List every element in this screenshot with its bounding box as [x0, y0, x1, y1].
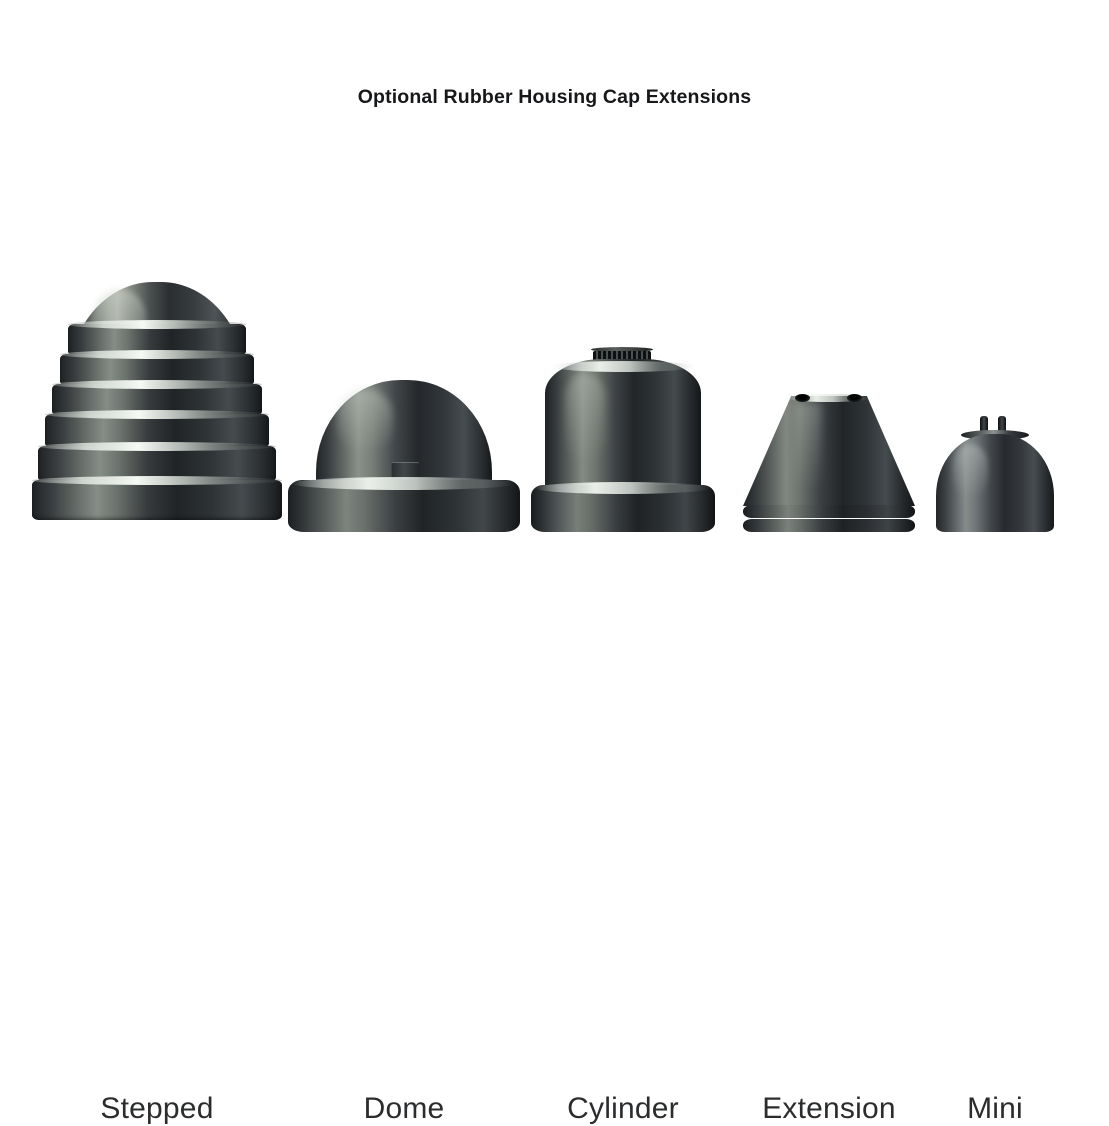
product-label-stepped: Stepped	[32, 1092, 282, 1126]
extension-top-hole-right	[847, 394, 862, 402]
stepped-ring-6-highlight	[32, 476, 282, 485]
stepped-ring-3-highlight	[52, 380, 262, 389]
extension-top-hole-left	[795, 394, 810, 402]
stepped-ring-2-highlight	[60, 350, 254, 359]
cylinder-shoulder-highlight	[551, 361, 695, 372]
extension-cap-illustration	[743, 389, 915, 532]
product-label-cylinder: Cylinder	[531, 1092, 715, 1126]
extension-base-ring-upper	[743, 505, 915, 518]
mini-bell-body	[936, 434, 1054, 532]
stepped-ring-1-highlight	[68, 320, 246, 329]
stepped-ring-4-highlight	[45, 410, 269, 419]
product-label-mini: Mini	[936, 1092, 1054, 1126]
mini-cap-illustration	[936, 410, 1054, 532]
stepped-cap-illustration	[32, 282, 282, 532]
stepped-ring-5-highlight	[38, 442, 276, 451]
product-label-extension: Extension	[743, 1092, 915, 1126]
stepped-ring-6	[32, 480, 282, 520]
cylinder-body	[545, 359, 701, 496]
extension-cone-body	[743, 396, 915, 506]
dome-flange-rim-highlight	[292, 477, 516, 490]
extension-base-ring-lower	[743, 519, 915, 532]
product-lineup: Stepped Dome Cylinder	[0, 0, 1109, 740]
cylinder-flange-rim-highlight	[535, 482, 711, 494]
cylinder-cap-illustration	[531, 352, 715, 532]
product-label-dome: Dome	[288, 1092, 520, 1126]
dome-cap-illustration	[288, 369, 520, 532]
product-comparison-figure: Optional Rubber Housing Cap Extensions S…	[0, 0, 1109, 740]
